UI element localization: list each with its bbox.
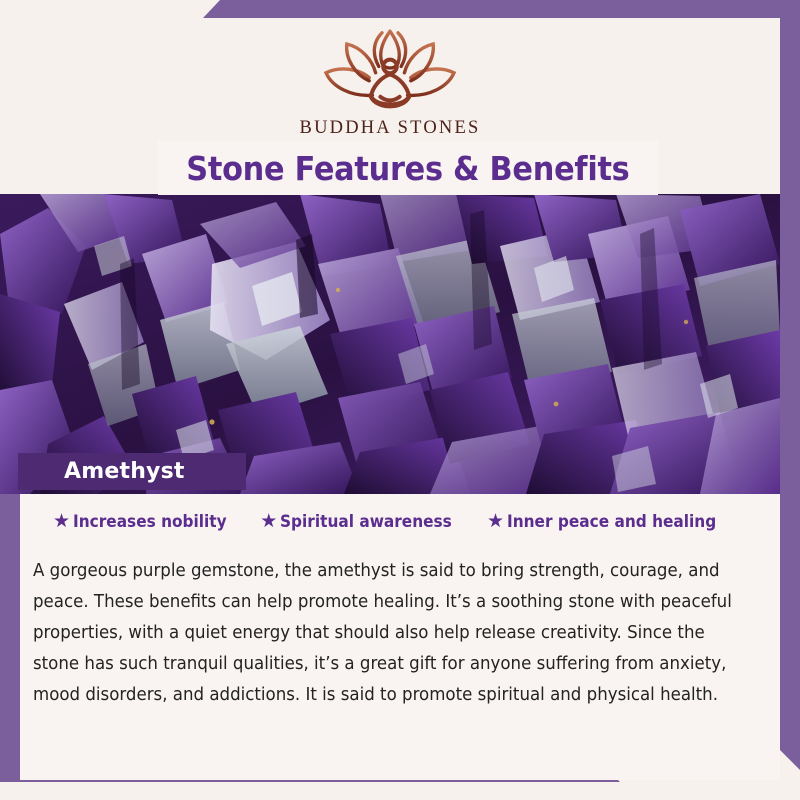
- feature-list: ★ Increases nobility ★ Spiritual awarene…: [20, 512, 765, 531]
- lotus-meditation-figure-icon: [310, 28, 470, 116]
- feature-label: Spiritual awareness: [280, 512, 452, 531]
- feature-item-1: ★ Increases nobility: [53, 512, 238, 531]
- decorative-frame-left: [0, 488, 20, 800]
- stone-content: ★ Increases nobility ★ Spiritual awarene…: [20, 494, 780, 780]
- page-title: Stone Features & Benefits: [186, 149, 629, 188]
- decorative-frame-top: [0, 0, 800, 18]
- footer-spacer: [0, 782, 800, 800]
- decorative-frame-right: [778, 0, 800, 770]
- star-icon: ★: [487, 512, 504, 531]
- feature-item-3: ★ Inner peace and healing: [487, 512, 732, 531]
- feature-label: Inner peace and healing: [507, 512, 716, 531]
- brand-name: BUDDHA STONES: [300, 118, 481, 139]
- page-title-bar: Stone Features & Benefits: [158, 141, 658, 195]
- stone-name: Amethyst: [64, 459, 185, 484]
- star-icon: ★: [53, 512, 70, 531]
- stone-name-banner: Amethyst: [18, 453, 246, 490]
- amethyst-photo: [0, 194, 780, 494]
- feature-label: Increases nobility: [73, 512, 227, 531]
- stone-info-card: BUDDHA STONES Stone Features & Benefits: [0, 0, 800, 800]
- feature-item-2: ★ Spiritual awareness: [260, 512, 465, 531]
- star-icon: ★: [260, 512, 277, 531]
- stone-description: A gorgeous purple gemstone, the amethyst…: [33, 556, 740, 711]
